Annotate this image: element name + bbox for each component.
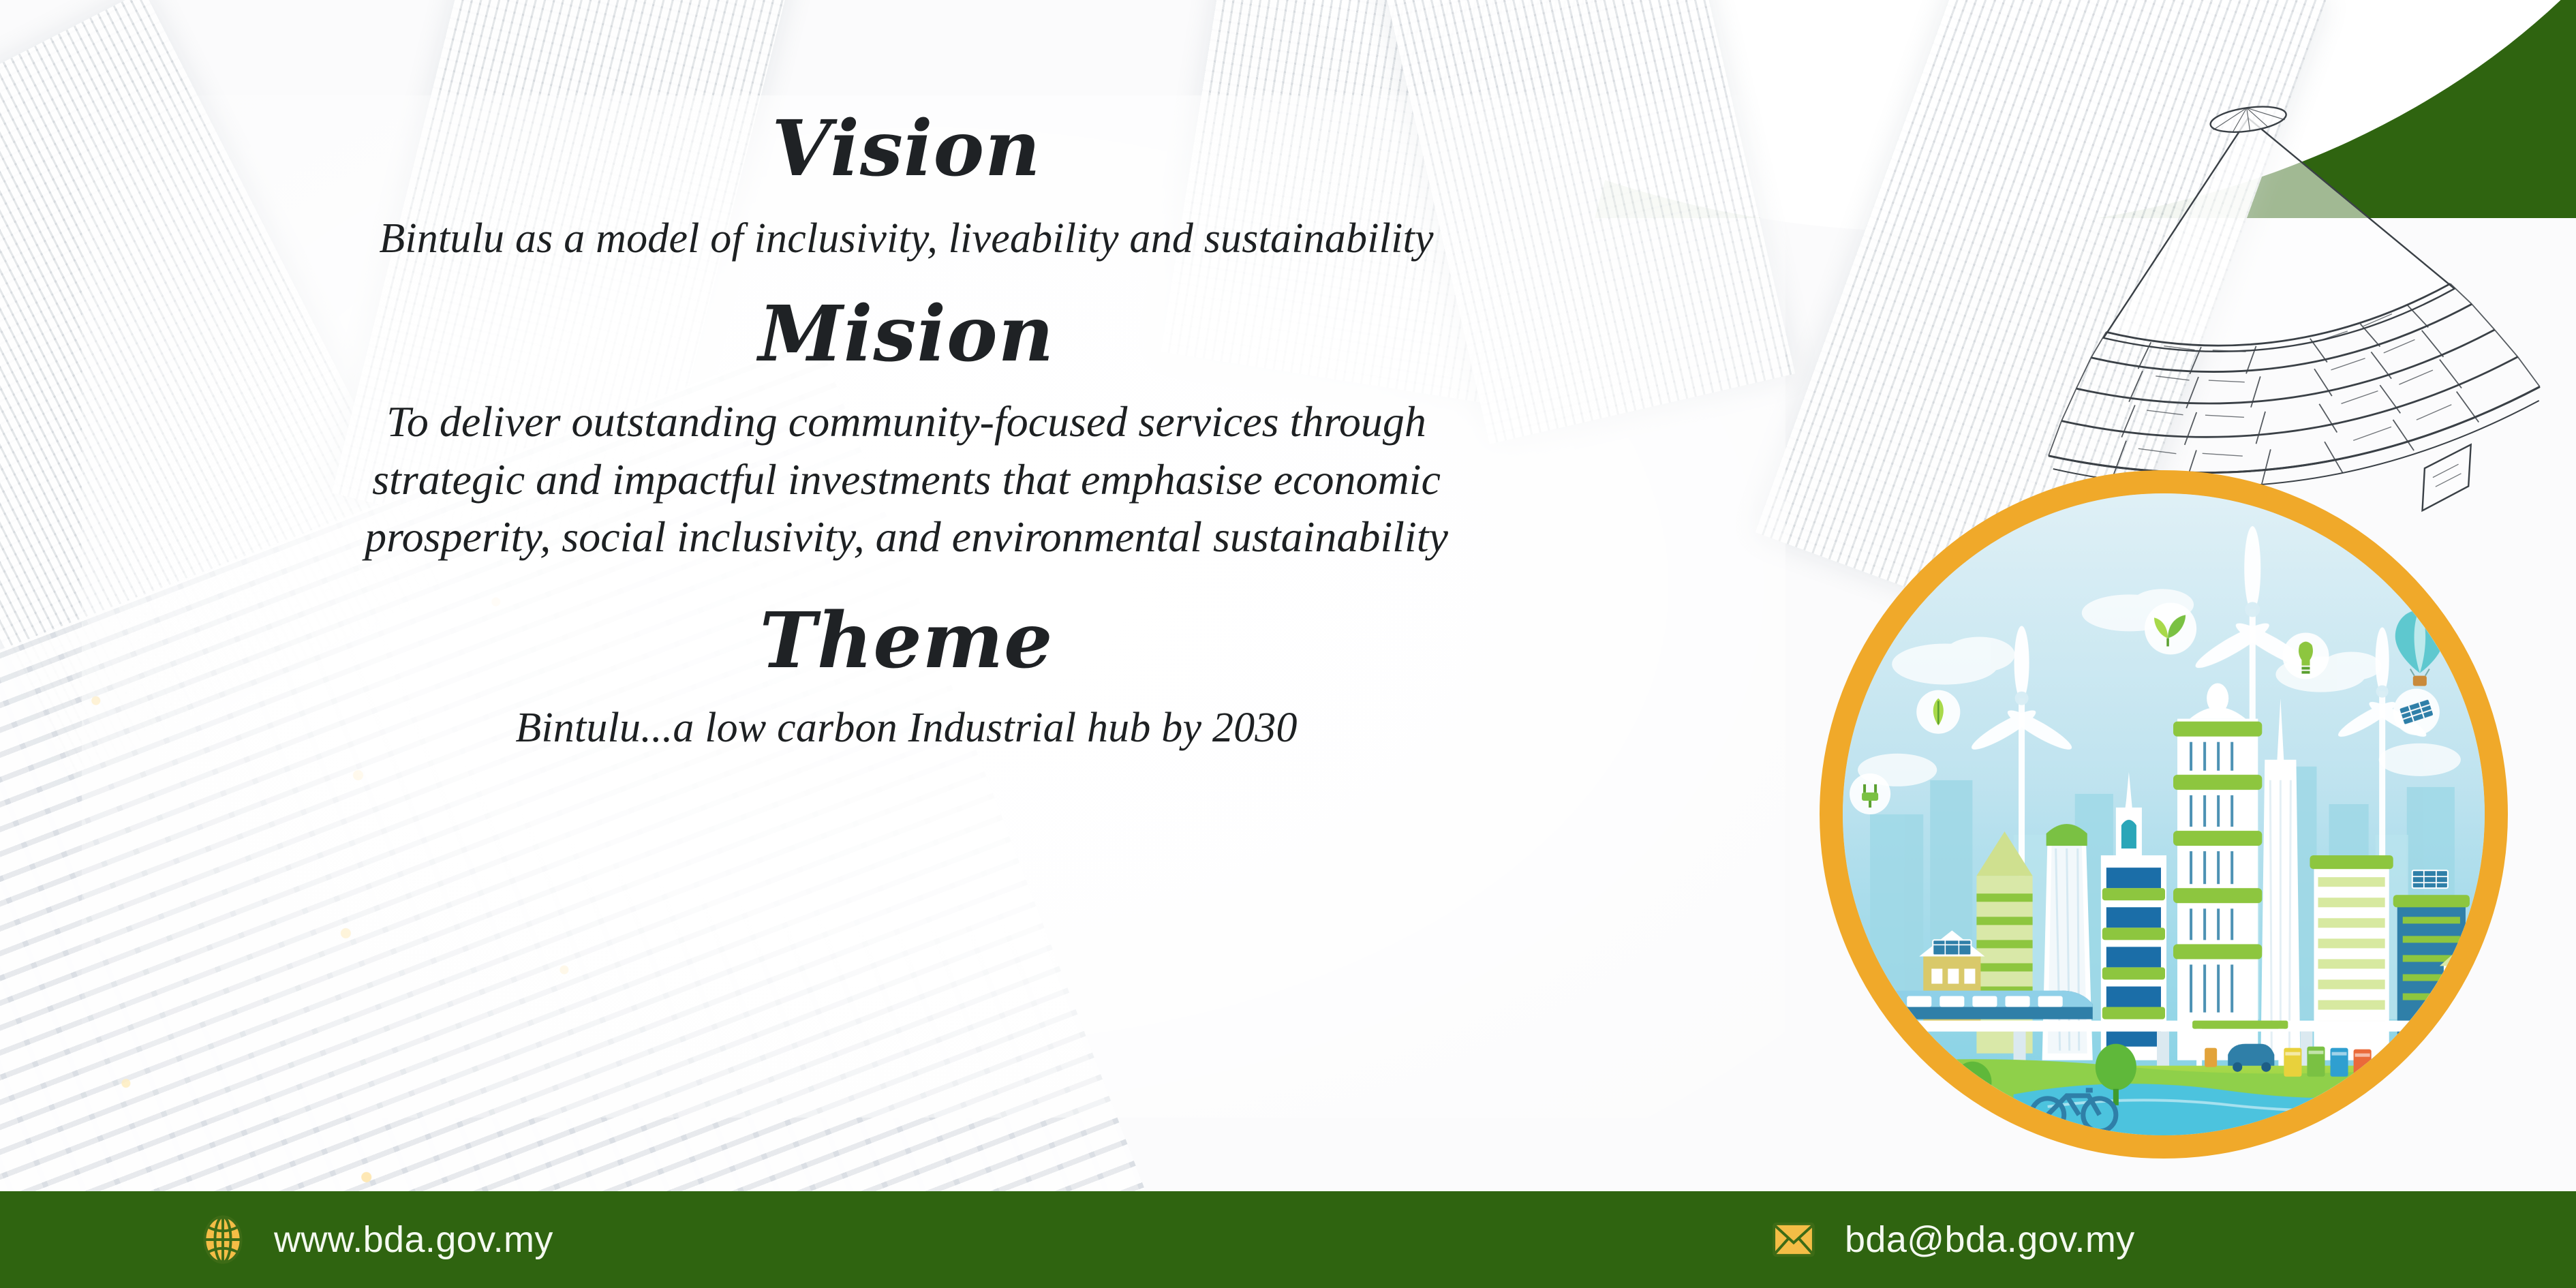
website-label: www.bda.gov.my: [274, 1218, 553, 1261]
banner-text-content: Vision Bintulu as a model of inclusivity…: [225, 109, 1588, 754]
eco-city-circle: [1820, 470, 2508, 1159]
mision-line-3: prosperity, social inclusivity, and envi…: [225, 508, 1588, 566]
vision-mision-theme-banner: Vision Bintulu as a model of inclusivity…: [0, 0, 2576, 1288]
mision-line-1: To deliver outstanding community-focused…: [225, 393, 1588, 450]
dome-building-illustration: [1937, 47, 2576, 539]
envelope-icon: [1768, 1214, 1819, 1265]
eco-city-illustration: [1843, 493, 2485, 1135]
vision-heading: Vision: [225, 109, 1588, 190]
vision-tagline: Bintulu as a model of inclusivity, livea…: [225, 213, 1588, 265]
mision-line-2: strategic and impactful investments that…: [225, 451, 1588, 508]
theme-heading: Theme: [225, 601, 1588, 682]
mision-heading: Mision: [225, 294, 1588, 375]
footer-website[interactable]: www.bda.gov.my: [198, 1214, 553, 1265]
mision-body: To deliver outstanding community-focused…: [225, 393, 1588, 566]
theme-tagline: Bintulu...a low carbon Industrial hub by…: [225, 703, 1588, 754]
email-label: bda@bda.gov.my: [1845, 1218, 2135, 1261]
footer-email[interactable]: bda@bda.gov.my: [1768, 1214, 2135, 1265]
globe-icon: [198, 1214, 248, 1265]
footer-bar: www.bda.gov.my bda@bda.gov.my: [0, 1191, 2576, 1288]
